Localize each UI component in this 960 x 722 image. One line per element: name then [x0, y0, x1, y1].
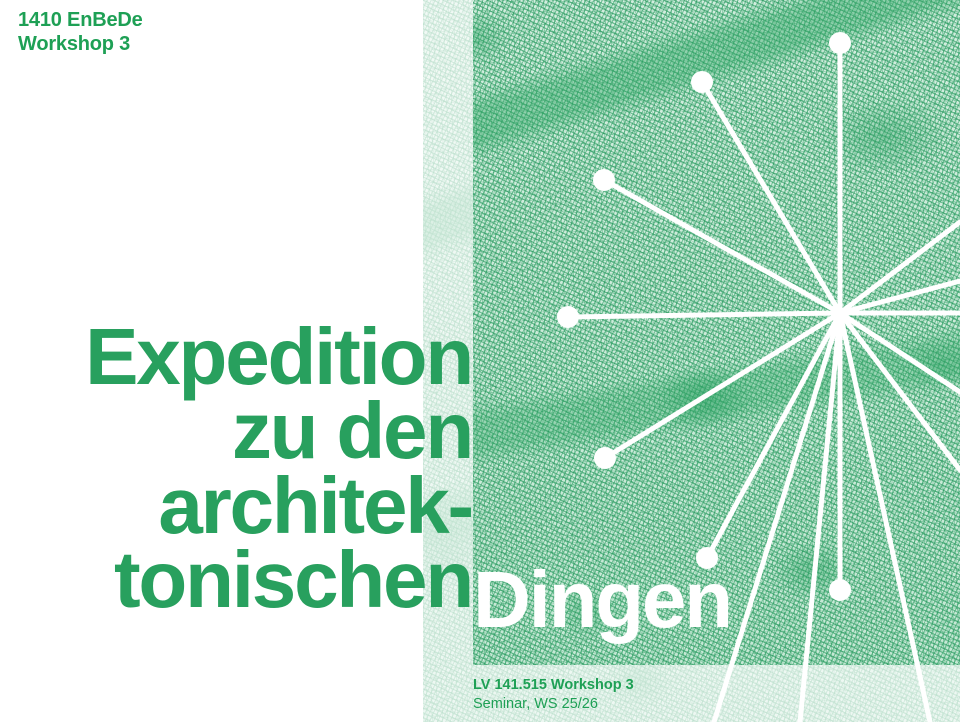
spoke-nw	[604, 180, 840, 313]
page-title: Expedition zu den architek- tonischen	[0, 320, 472, 618]
node-dot	[593, 169, 615, 191]
spoke-w	[568, 313, 840, 317]
node-dot	[829, 579, 851, 601]
title-line-2: zu den	[0, 394, 472, 468]
title-line-1: Expedition	[0, 320, 472, 394]
title-overlay-word: Dingen	[473, 563, 731, 637]
title-line-3: architek-	[0, 469, 472, 543]
spoke-sw	[605, 313, 840, 458]
node-dot	[594, 447, 616, 469]
spoke-ese	[840, 313, 960, 392]
spoke-nnw	[702, 82, 840, 313]
course-header: 1410 EnBeDe Workshop 3	[18, 8, 143, 57]
caption-line-1: LV 141.515 Workshop 3	[473, 676, 634, 695]
poster-canvas: 1410 EnBeDe Workshop 3 Expedition zu den…	[0, 0, 960, 722]
course-caption: LV 141.515 Workshop 3 Seminar, WS 25/26	[473, 676, 634, 714]
hub-dot	[836, 309, 844, 317]
node-dot	[557, 306, 579, 328]
caption-line-2: Seminar, WS 25/26	[473, 695, 634, 714]
title-line-4: tonischen	[0, 543, 472, 617]
node-dot	[691, 71, 713, 93]
node-dot	[829, 32, 851, 54]
